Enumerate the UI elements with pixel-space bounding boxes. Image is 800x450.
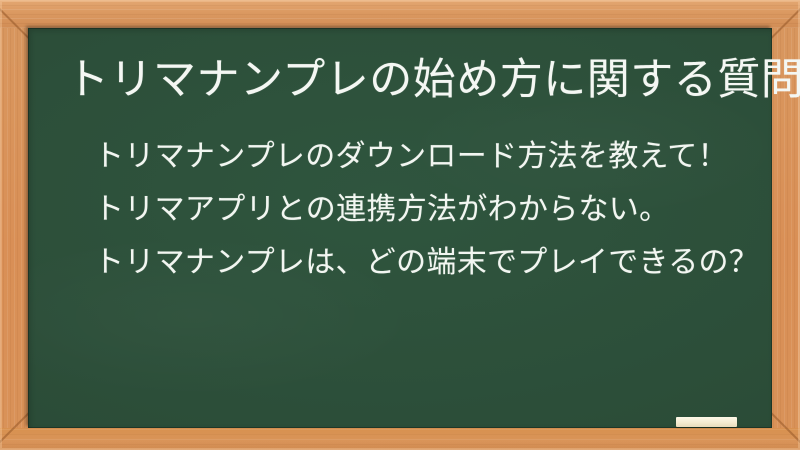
board-question-line: トリマアプリとの連携方法がわからない。 (94, 183, 754, 236)
chalk-stick-icon (676, 417, 737, 427)
chalkboard: トリマナンプレの始め方に関する質問 トリマナンプレのダウンロード方法を教えて！ … (28, 28, 772, 428)
board-question-line: トリマナンプレのダウンロード方法を教えて！ (94, 130, 754, 183)
slide-canvas: トリマナンプレの始め方に関する質問 トリマナンプレのダウンロード方法を教えて！ … (0, 0, 800, 450)
frame-rail-bottom (0, 428, 800, 450)
board-question-list: トリマナンプレのダウンロード方法を教えて！ トリマアプリとの連携方法がわからない… (94, 130, 754, 289)
board-question-line: トリマナンプレは、どの端末でプレイできるの？ (94, 236, 754, 289)
board-title: トリマナンプレの始め方に関する質問 (66, 55, 800, 105)
frame-rail-top (0, 0, 800, 28)
